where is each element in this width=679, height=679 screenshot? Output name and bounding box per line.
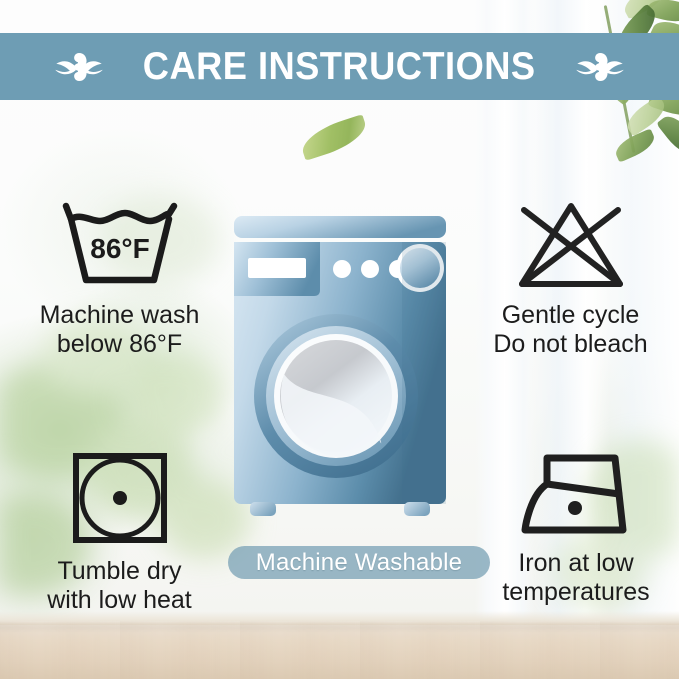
detergent-drawer-slot (248, 258, 306, 278)
care-label-machine-wash: Machine wash below 86°F (40, 301, 200, 358)
tumble-dry-square-circle-icon (68, 448, 172, 548)
wash-temperature-value: 86°F (90, 233, 149, 264)
machine-foot-left (250, 502, 276, 516)
care-label-do-not-bleach: Gentle cycle Do not bleach (493, 301, 647, 358)
machine-top-lid (234, 216, 446, 238)
machine-washable-badge: Machine Washable (228, 546, 490, 579)
header-banner: CARE INSTRUCTIONS (0, 33, 679, 100)
wash-tub-icon: 86°F (54, 196, 186, 292)
care-item-iron: Iron at low temperatures (476, 448, 676, 606)
fleur-de-lis-right-icon (573, 45, 627, 89)
machine-foot-right (404, 502, 430, 516)
triangle-crossed-out-icon (510, 196, 632, 292)
care-item-machine-wash: 86°F Machine wash below 86°F (12, 196, 227, 358)
care-item-do-not-bleach: Gentle cycle Do not bleach (468, 196, 673, 358)
care-label-iron: Iron at low temperatures (502, 549, 649, 606)
fleur-de-lis-left-icon (52, 45, 106, 89)
wood-grain-texture (0, 621, 679, 679)
care-item-tumble-dry: Tumble dry with low heat (12, 448, 227, 614)
badge-label: Machine Washable (256, 549, 462, 577)
indicator-light-2 (361, 260, 379, 278)
iron-one-dot-icon (509, 448, 643, 540)
care-label-tumble-dry: Tumble dry with low heat (47, 557, 192, 614)
washing-machine-illustration (232, 214, 448, 526)
indicator-light-1 (333, 260, 351, 278)
care-instructions-graphic: CARE INSTRUCTIONS 86°F Machine wash belo… (0, 0, 679, 679)
wood-table-surface (0, 621, 679, 679)
page-title: CARE INSTRUCTIONS (143, 45, 536, 89)
